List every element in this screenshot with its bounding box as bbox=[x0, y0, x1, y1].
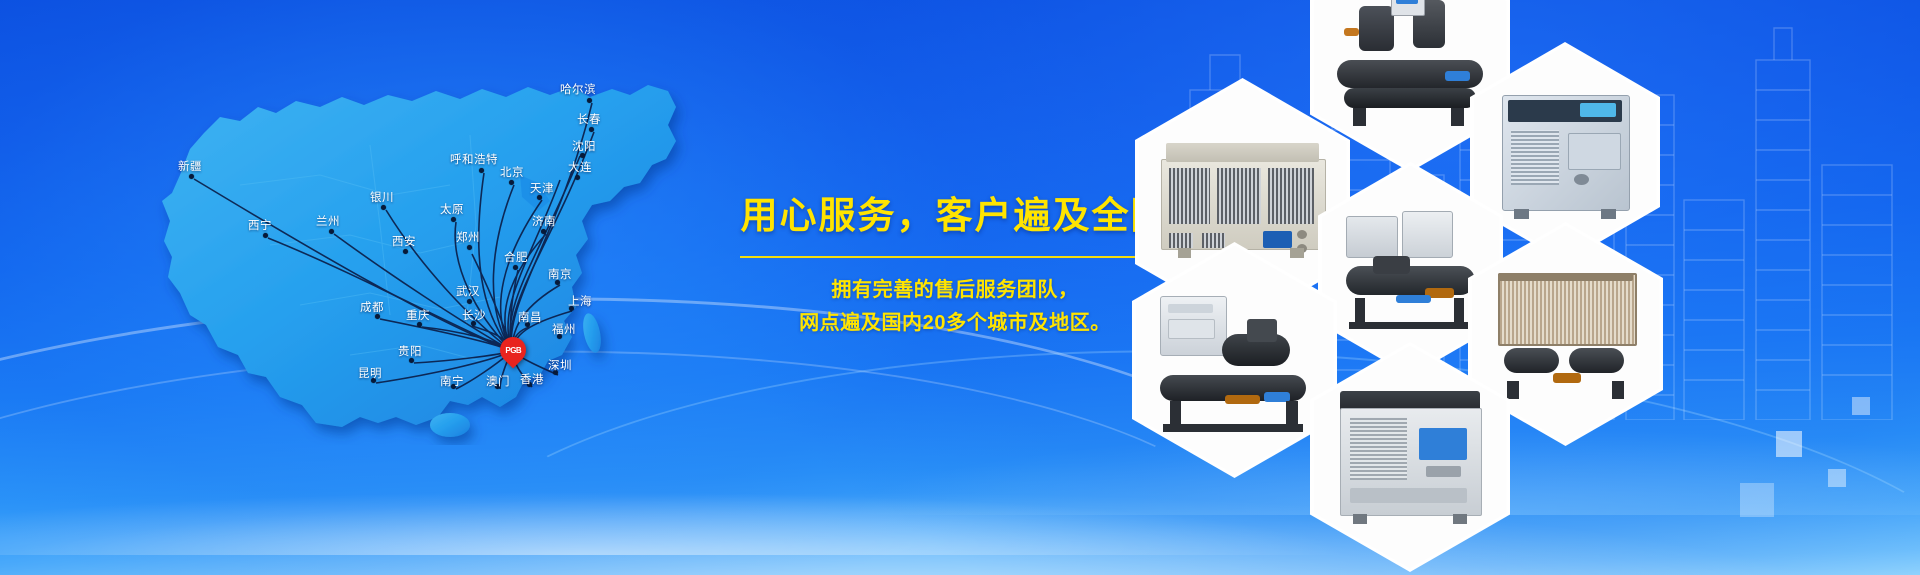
city-label-dalian: 大连 bbox=[568, 163, 592, 175]
city-label-zhengzhou: 郑州 bbox=[456, 233, 480, 245]
city-label-chengdu: 成都 bbox=[360, 303, 384, 315]
city-label-harbin: 哈尔滨 bbox=[560, 85, 596, 97]
city-label-nanning: 南宁 bbox=[440, 377, 464, 389]
city-dot bbox=[403, 249, 408, 254]
city-label-tianjin: 天津 bbox=[530, 184, 554, 196]
city-label-fuzhou: 福州 bbox=[552, 325, 576, 337]
city-label-yinchuan: 银川 bbox=[370, 193, 394, 205]
city-dot bbox=[537, 195, 542, 200]
city-label-nanchang: 南昌 bbox=[518, 313, 542, 325]
city-dot bbox=[417, 322, 422, 327]
city-label-guiyang: 贵阳 bbox=[398, 347, 422, 359]
hub-pin-label: PGB bbox=[505, 346, 521, 355]
city-label-shenzhen: 深圳 bbox=[548, 361, 572, 373]
city-dot bbox=[467, 245, 472, 250]
city-dot bbox=[509, 180, 514, 185]
city-label-hongkong: 香港 bbox=[520, 375, 544, 387]
portable-box-chiller-image bbox=[1490, 84, 1640, 220]
headquarters-map-pin[interactable]: PGB bbox=[500, 337, 526, 363]
city-label-taiyuan: 太原 bbox=[440, 205, 464, 217]
headline-divider bbox=[740, 256, 1170, 258]
compressor-condensing-unit-image bbox=[1338, 203, 1484, 335]
cabinet-industrial-chiller-image bbox=[1331, 386, 1489, 529]
city-dot bbox=[575, 175, 580, 180]
city-label-wuhan: 武汉 bbox=[456, 287, 480, 299]
city-dot bbox=[189, 174, 194, 179]
city-label-hefei: 合肥 bbox=[504, 253, 528, 265]
banner-subtitle-line-1: 拥有完善的售后服务团队， bbox=[740, 274, 1170, 307]
city-label-lanzhou: 兰州 bbox=[316, 217, 340, 229]
city-dot bbox=[375, 314, 380, 319]
city-label-changsha: 长沙 bbox=[462, 311, 486, 323]
city-label-nanjing: 南京 bbox=[548, 270, 572, 282]
water-cooled-screw-chiller-image bbox=[1331, 0, 1489, 128]
city-dot bbox=[329, 229, 334, 234]
banner-headline: 用心服务，客户遍及全国 bbox=[740, 196, 1170, 237]
banner-text-block: 用心服务，客户遍及全国 拥有完善的售后服务团队， 网点遍及国内20多个城市及地区… bbox=[740, 196, 1170, 340]
city-dot bbox=[451, 217, 456, 222]
city-label-xinjiang: 新疆 bbox=[178, 162, 202, 174]
city-dot bbox=[263, 233, 268, 238]
city-label-chongqing: 重庆 bbox=[406, 311, 430, 323]
city-label-kunming: 昆明 bbox=[358, 369, 382, 381]
city-label-changchun: 长春 bbox=[577, 115, 601, 127]
city-dot bbox=[479, 168, 484, 173]
city-label-jinan: 济南 bbox=[532, 217, 556, 229]
semi-hermetic-compressor-unit-image bbox=[1153, 287, 1315, 434]
promo-banner: 新疆 哈尔滨 长春 沈阳 呼和浩特 北京 大连 天津 银川 兰州 太原 济南 西… bbox=[0, 0, 1920, 575]
city-label-macau: 澳门 bbox=[486, 377, 510, 389]
city-dot bbox=[580, 153, 585, 158]
city-label-shanghai: 上海 bbox=[568, 297, 592, 309]
product-hexagon-gallery bbox=[1150, 0, 1920, 575]
city-dot bbox=[467, 299, 472, 304]
city-dot bbox=[409, 358, 414, 363]
finned-condenser-unit-image bbox=[1488, 265, 1642, 404]
city-label-beijing: 北京 bbox=[500, 168, 524, 180]
city-label-shenyang: 沈阳 bbox=[572, 142, 596, 154]
china-distribution-map: 新疆 哈尔滨 长春 沈阳 呼和浩特 北京 大连 天津 银川 兰州 太原 济南 西… bbox=[120, 25, 740, 445]
city-dot bbox=[513, 265, 518, 270]
city-label-xian: 西安 bbox=[392, 237, 416, 249]
banner-subtitle-line-2: 网点遍及国内20多个城市及地区。 bbox=[740, 307, 1170, 340]
city-dot bbox=[589, 127, 594, 132]
city-dot bbox=[587, 98, 592, 103]
city-label-hohhot: 呼和浩特 bbox=[450, 155, 498, 167]
city-label-xining: 西宁 bbox=[248, 221, 272, 233]
city-dot bbox=[381, 205, 386, 210]
city-dot bbox=[541, 229, 546, 234]
